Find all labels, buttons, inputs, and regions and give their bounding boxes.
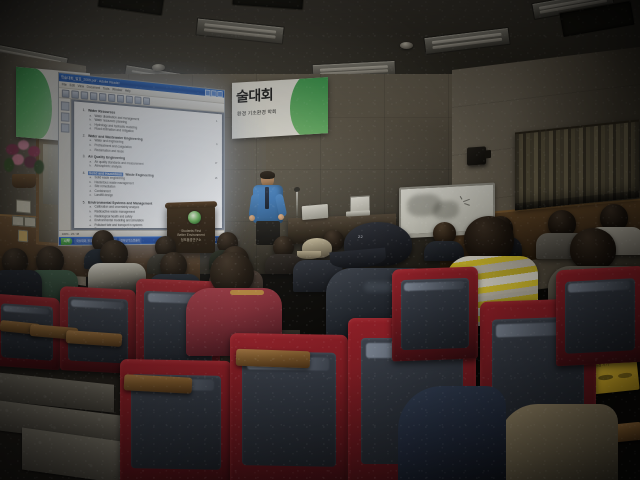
navigation-pane[interactable] bbox=[59, 98, 71, 230]
toc-subtitle: Exposure assessment and risk analysis bbox=[95, 227, 144, 228]
ceiling-sensor bbox=[400, 42, 413, 49]
toc-number: 4. bbox=[81, 170, 86, 174]
ceiling-vent bbox=[231, 0, 304, 10]
find-icon[interactable] bbox=[143, 97, 150, 105]
select-icon[interactable] bbox=[90, 92, 97, 100]
toc-subnumber: b. bbox=[88, 209, 92, 213]
microphone-icon bbox=[296, 190, 298, 216]
flower-vase bbox=[12, 174, 36, 188]
toc-page: 25 bbox=[215, 176, 217, 180]
rotate-icon[interactable] bbox=[135, 96, 142, 104]
toc-subnumber: d. bbox=[88, 127, 92, 131]
laptop-keyboard bbox=[346, 210, 370, 216]
toc-subnumber: a. bbox=[88, 138, 92, 142]
close-icon[interactable] bbox=[217, 90, 222, 97]
zoom-out-icon[interactable] bbox=[108, 93, 115, 101]
auditorium-seat bbox=[392, 266, 478, 361]
toc-number: 5. bbox=[81, 200, 86, 204]
outlet-plate[interactable] bbox=[18, 230, 28, 243]
operator-laptop bbox=[302, 204, 328, 220]
toc-page: 17 bbox=[215, 161, 217, 165]
pages-icon[interactable] bbox=[60, 112, 69, 122]
toc-subnumber: b. bbox=[88, 143, 92, 147]
toc-number: 2. bbox=[81, 133, 86, 137]
toc-subnumber: e. bbox=[88, 223, 92, 227]
banner-right: 술대회 환경 기초환경 학회 bbox=[232, 77, 328, 139]
toc-subnumber: d. bbox=[88, 189, 92, 193]
toc-number: 1. bbox=[81, 108, 86, 112]
toc-subtitle: Landfill design bbox=[95, 193, 113, 197]
banner-green-swoosh bbox=[290, 77, 328, 139]
seat-armrest bbox=[236, 349, 311, 369]
toc-subtitle: Reclamation and reuse bbox=[95, 148, 124, 153]
toc-subtitle: Pollutant fate and transport in systems bbox=[95, 223, 143, 227]
attendee-jeans bbox=[398, 386, 506, 480]
menu-help[interactable]: Help bbox=[125, 88, 131, 94]
toc-subtitle: Environmental modeling and simulation bbox=[95, 218, 144, 222]
print-icon[interactable] bbox=[71, 90, 79, 99]
banner-right-subline: 환경 기초환경 학회 bbox=[237, 108, 277, 117]
toc-subnumber: c. bbox=[88, 147, 92, 151]
toc-page: 1 bbox=[216, 119, 217, 123]
ceiling-vent bbox=[97, 0, 165, 16]
banner-green-swoosh bbox=[16, 67, 52, 140]
menu-window[interactable]: Window bbox=[112, 86, 122, 93]
toc-subnumber: c. bbox=[88, 184, 92, 188]
toc-subtitle: Atmospheric analysis bbox=[95, 164, 122, 169]
presenter bbox=[248, 172, 288, 244]
minimize-icon[interactable] bbox=[205, 89, 210, 96]
presenter-right-hand bbox=[278, 214, 284, 220]
toc-number: 3. bbox=[81, 154, 86, 158]
save-icon[interactable] bbox=[62, 89, 70, 98]
ceiling-light bbox=[195, 17, 284, 44]
wall-speaker-icon bbox=[467, 146, 486, 165]
toc-subnumber: b. bbox=[88, 163, 92, 167]
toc-subnumber: b. bbox=[88, 180, 92, 184]
toc-subnumber: a. bbox=[88, 205, 92, 209]
light-switch-panel[interactable] bbox=[16, 199, 31, 213]
ceiling-light bbox=[423, 27, 511, 55]
menu-edit[interactable]: Edit bbox=[70, 82, 75, 88]
fit-page-icon[interactable] bbox=[126, 95, 133, 103]
toc-section-highlighted: 4. Solid and Hazardous Waste Engineering… bbox=[81, 170, 218, 200]
flower-arrangement bbox=[2, 138, 48, 190]
maximize-icon[interactable] bbox=[211, 90, 216, 97]
ceiling-vent bbox=[558, 0, 635, 38]
toc-subnumber: d. bbox=[88, 218, 92, 222]
toc-page: 9 bbox=[216, 142, 217, 146]
toc-subnumber: c. bbox=[88, 214, 92, 218]
email-icon[interactable] bbox=[81, 91, 88, 100]
banner-right-headline: 술대회 bbox=[236, 84, 273, 106]
snapshot-icon[interactable] bbox=[99, 92, 106, 100]
start-button[interactable]: 시작 bbox=[61, 237, 73, 244]
toc-subnumber: f. bbox=[88, 227, 92, 228]
presenter-tie bbox=[265, 187, 269, 209]
ceiling-sensor bbox=[152, 64, 165, 71]
light-switch[interactable] bbox=[24, 216, 36, 227]
toc-subnumber: a. bbox=[88, 175, 92, 179]
presenter-left-hand bbox=[249, 215, 255, 221]
presenter-laptop bbox=[346, 195, 370, 217]
auditorium-seat bbox=[556, 266, 640, 367]
cap-text: 22 bbox=[358, 234, 363, 239]
ceiling-light bbox=[531, 0, 615, 20]
cap-brim bbox=[329, 248, 386, 271]
menu-file[interactable]: File bbox=[62, 81, 67, 87]
page-zoom-status: 100% - 25 / 48 bbox=[62, 232, 79, 236]
menu-view[interactable]: View bbox=[78, 83, 84, 90]
zoom-in-icon[interactable] bbox=[117, 94, 124, 102]
toc-subnumber: e. bbox=[88, 193, 92, 197]
light-switch[interactable] bbox=[12, 215, 24, 226]
lecture-hall-photo: 2 일시 술대회 환경 기초환경 학회 학술대회_발표_2009.pdf - A… bbox=[0, 0, 640, 480]
attendee-legs bbox=[498, 404, 618, 480]
bookmarks-icon[interactable] bbox=[60, 101, 69, 111]
presenter-hair bbox=[260, 171, 275, 179]
toc-subnumber: a. bbox=[88, 159, 92, 163]
menu-tools[interactable]: Tools bbox=[103, 85, 110, 91]
university-crest-icon bbox=[188, 211, 201, 224]
attachments-icon[interactable] bbox=[60, 123, 69, 133]
window-curtain bbox=[515, 119, 639, 210]
podium-top-surface bbox=[165, 201, 217, 209]
